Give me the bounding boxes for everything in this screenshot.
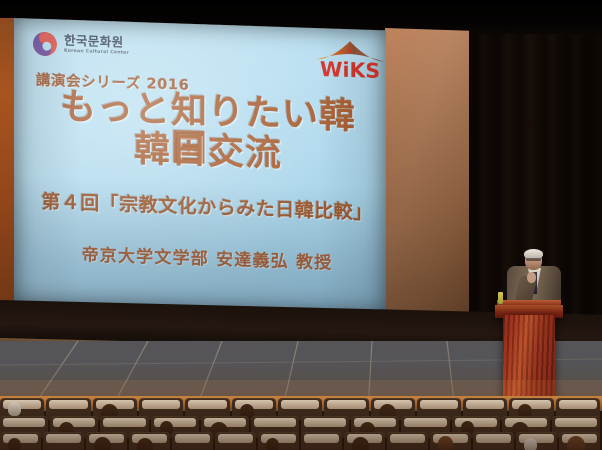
audience-member-head	[8, 438, 21, 450]
seat-headrest	[304, 434, 339, 443]
korean-cultural-center-logo: 한국문화원 Korean Cultural Center	[32, 31, 129, 60]
seat-headrest	[476, 434, 511, 443]
audience-seat	[172, 432, 213, 450]
seat-headrest	[420, 400, 458, 409]
seat-headrest	[188, 400, 226, 409]
seat-headrest	[404, 418, 446, 427]
speaker-glasses-icon	[526, 258, 541, 261]
audience-seat	[473, 432, 514, 450]
projection-screen: 한국문화원 Korean Cultural Center	[14, 0, 386, 332]
wiks-wordmark: WiKS	[320, 57, 380, 82]
seat-headrest	[254, 418, 296, 427]
seat-headrest	[390, 434, 425, 443]
seat-headrest	[142, 400, 180, 409]
kcc-korean-name: 한국문화원	[64, 35, 129, 50]
seat-headrest	[46, 434, 81, 443]
audience-seat	[387, 432, 428, 450]
seat-headrest	[103, 418, 145, 427]
seat-headrest	[281, 400, 319, 409]
slide-presenter: 帝京大学文学部 安達義弘 教授	[28, 238, 386, 275]
seat-headrest	[327, 400, 365, 409]
audience-member-head	[137, 438, 153, 450]
seat-headrest	[3, 418, 45, 427]
audience-member-head	[352, 437, 369, 450]
seat-headrest	[175, 434, 210, 443]
presentation-slide: 한국문화원 Korean Cultural Center	[14, 18, 386, 314]
audience-member-head	[8, 402, 21, 416]
kcc-english-name: Korean Cultural Center	[64, 50, 129, 57]
audience-member-head	[524, 438, 537, 450]
audience-seating	[0, 398, 602, 450]
audience-member-head	[94, 437, 111, 450]
taegeuk-swirl-icon	[32, 31, 58, 58]
audience-member-head	[438, 436, 453, 450]
right-wall-sheen	[385, 28, 469, 317]
wiks-logo: WiKS	[314, 36, 386, 82]
audience-row	[0, 432, 602, 450]
seat-headrest	[555, 418, 597, 427]
seat-headrest	[559, 400, 597, 409]
seat-headrest	[49, 400, 87, 409]
audience-member-head	[567, 436, 585, 450]
slide-subtitle: 第４回「宗教文化からみた日韓比較」	[28, 186, 386, 225]
screenshot-root: 한국문화원 Korean Cultural Center	[0, 0, 602, 450]
audience-seat	[215, 432, 256, 450]
speaker-hand	[527, 272, 536, 283]
podium-wood-grain	[503, 315, 555, 403]
seat-headrest	[218, 434, 253, 443]
audience-member-head	[266, 438, 279, 450]
water-bottle	[498, 292, 503, 304]
seat-headrest	[304, 418, 346, 427]
kcc-logo-text: 한국문화원 Korean Cultural Center	[64, 35, 129, 57]
audience-seat	[301, 432, 342, 450]
seat-headrest	[466, 400, 504, 409]
audience-seat	[43, 432, 84, 450]
